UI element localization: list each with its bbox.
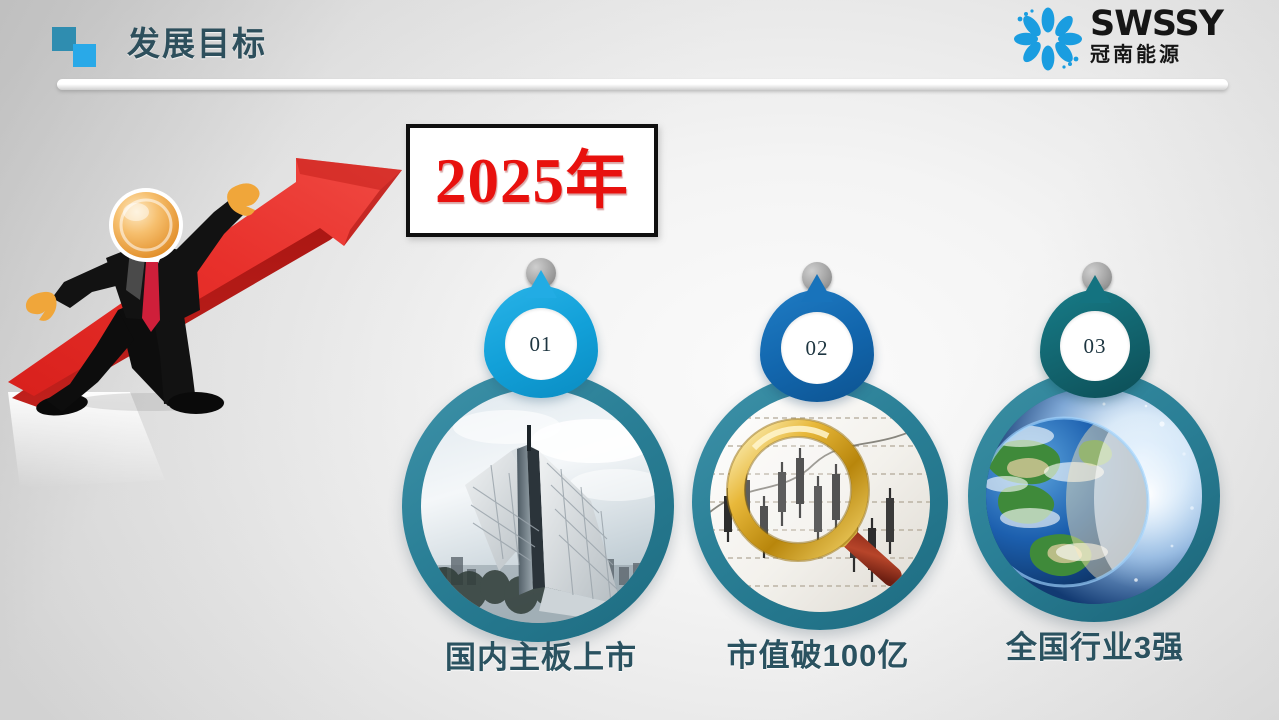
two-squares-icon <box>52 27 112 67</box>
slide-header: 发展目标 <box>0 0 1279 92</box>
pod-image-ring-01 <box>402 370 674 642</box>
pod-label-02: 市值破100亿 <box>673 630 963 675</box>
pod-label-01: 国内主板上市 <box>396 632 686 677</box>
goal-pod-01[interactable]: 01 国内主板上市 <box>396 258 686 678</box>
businessman-on-rising-arrow-illustration <box>0 150 420 520</box>
pod-image-ring-02 <box>692 374 948 630</box>
earth-from-space-photo <box>986 388 1202 604</box>
pod-number-02: 02 <box>806 336 829 360</box>
pod-number-face-01: 01 <box>505 308 577 380</box>
page-title: 发展目标 <box>127 21 267 67</box>
pod-pin-02: 02 <box>754 262 884 412</box>
pod-drop-03: 03 <box>1040 290 1150 398</box>
year-callout-text: 2025年 <box>435 148 629 214</box>
pod-number-face-03: 03 <box>1060 311 1130 381</box>
pod-pin-01: 01 <box>476 258 606 408</box>
year-callout: 2025年 <box>406 124 658 237</box>
slide-canvas: 发展目标 <box>0 0 1279 720</box>
pod-number-01: 01 <box>530 332 553 356</box>
skyscraper-architecture-photo <box>421 389 655 623</box>
logo-subtitle: 冠南能源 <box>1090 43 1265 68</box>
pod-number-face-02: 02 <box>781 312 853 384</box>
header-divider <box>57 79 1228 90</box>
pod-number-03: 03 <box>1084 334 1107 358</box>
pod-label-03: 全国行业3强 <box>950 622 1240 667</box>
pod-drop-01: 01 <box>484 286 598 398</box>
goal-pod-03[interactable]: 03 全国行业3强 <box>958 262 1230 682</box>
magnifying-glass-over-stock-chart-photo <box>710 392 930 612</box>
blue-petal-flower-icon <box>1012 6 1084 72</box>
logo-wordmark: SWSSY 冠南能源 <box>1090 5 1265 68</box>
company-logo: SWSSY 冠南能源 <box>1012 4 1267 74</box>
pod-pin-03: 03 <box>1034 262 1164 412</box>
pod-drop-02: 02 <box>760 290 874 402</box>
goal-pod-02[interactable]: 02 市值破100亿 <box>678 262 958 682</box>
square-icon-front <box>73 44 96 67</box>
logo-name: SWSSY <box>1090 5 1265 43</box>
